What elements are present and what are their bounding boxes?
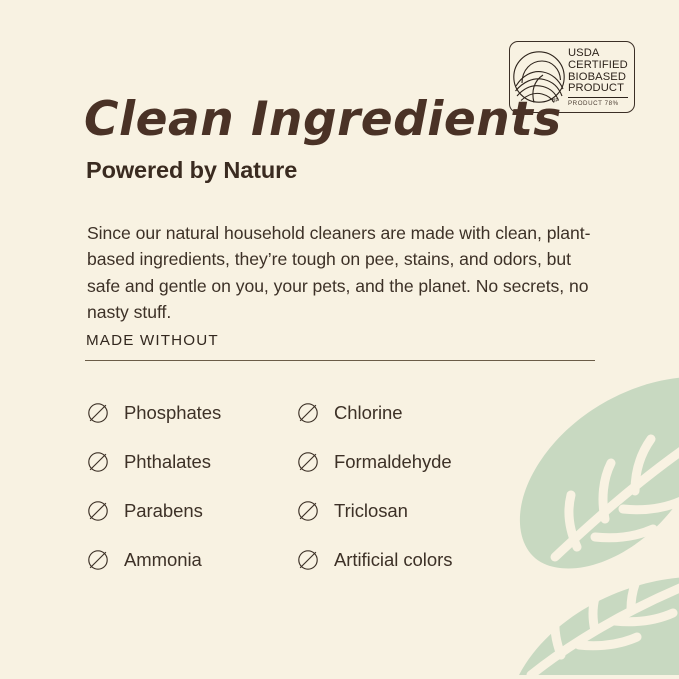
- list-item: Artificial colors: [296, 535, 596, 584]
- page-title: Clean Ingredients: [84, 94, 562, 146]
- list-item-label: Ammonia: [124, 549, 202, 571]
- no-symbol-icon: [86, 450, 110, 474]
- list-item: Phthalates: [86, 437, 296, 486]
- usda-badge-divider: [568, 97, 628, 98]
- list-item-label: Formaldehyde: [334, 451, 452, 473]
- no-symbol-icon: [296, 548, 320, 572]
- list-item-label: Phosphates: [124, 402, 221, 424]
- no-symbol-icon: [296, 450, 320, 474]
- list-item-label: Phthalates: [124, 451, 211, 473]
- no-symbol-icon: [86, 548, 110, 572]
- page-subtitle: Powered by Nature: [86, 156, 297, 184]
- no-symbol-icon: [86, 499, 110, 523]
- section-divider: [85, 360, 595, 361]
- usda-badge-text: USDA CERTIFIED BIOBASED PRODUCT PRODUCT …: [568, 44, 634, 109]
- list-item: Triclosan: [296, 486, 596, 535]
- list-item: Parabens: [86, 486, 296, 535]
- usda-badge-percent: PRODUCT 78%: [568, 100, 628, 107]
- list-item-label: Parabens: [124, 500, 203, 522]
- list-item: Formaldehyde: [296, 437, 596, 486]
- no-symbol-icon: [296, 499, 320, 523]
- usda-badge-line-4: PRODUCT: [568, 83, 628, 95]
- made-without-label: MADE WITHOUT: [86, 332, 219, 350]
- made-without-list: Phosphates Chlorine Phthalates Formaldeh…: [86, 388, 596, 584]
- no-symbol-icon: [296, 401, 320, 425]
- list-item: Phosphates: [86, 388, 296, 437]
- no-symbol-icon: [86, 401, 110, 425]
- list-item: Chlorine: [296, 388, 596, 437]
- list-item-label: Triclosan: [334, 500, 408, 522]
- body-paragraph: Since our natural household cleaners are…: [87, 220, 597, 326]
- usda-badge-line-2: CERTIFIED: [568, 60, 628, 72]
- ingredients-infographic: BP USDA CERTIFIED BIOBASED PRODUCT PRODU…: [0, 0, 679, 679]
- list-item-label: Artificial colors: [334, 549, 452, 571]
- list-item: Ammonia: [86, 535, 296, 584]
- list-item-label: Chlorine: [334, 402, 403, 424]
